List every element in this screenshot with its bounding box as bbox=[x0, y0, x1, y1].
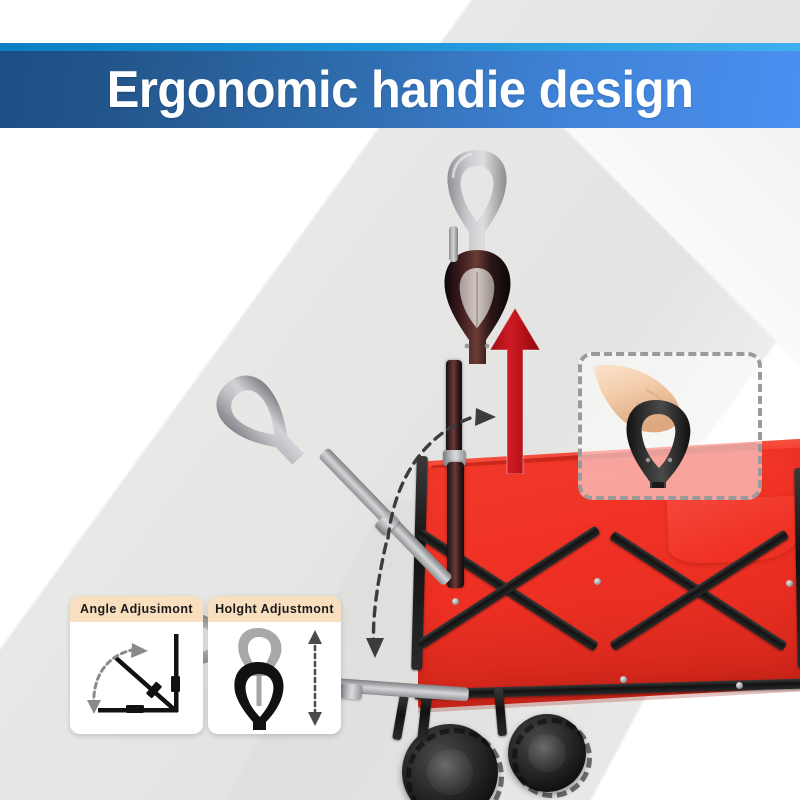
frame-rivet bbox=[736, 682, 743, 689]
frame-rivet bbox=[620, 676, 627, 683]
product-feature-image: Ergonomic handie design bbox=[0, 0, 800, 800]
card-height-title: Holght Adjustmont bbox=[215, 602, 334, 616]
card-height-adjustment[interactable]: Holght Adjustmont bbox=[208, 596, 341, 734]
hand-grip-inset-art bbox=[584, 356, 748, 488]
banner-accent-strip bbox=[0, 43, 800, 51]
frame-rivet bbox=[786, 580, 793, 587]
handle-inner-tube-upper bbox=[449, 226, 458, 262]
page-title: Ergonomic handie design bbox=[107, 64, 694, 116]
wagon-fabric-flap bbox=[667, 496, 799, 564]
header-banner: Ergonomic handie design bbox=[0, 51, 800, 128]
card-angle-adjustment[interactable]: Angle Adjusimont bbox=[70, 596, 203, 734]
frame-leg-outer bbox=[392, 694, 409, 741]
card-angle-header: Angle Adjusimont bbox=[70, 596, 203, 622]
frame-rivet bbox=[594, 578, 601, 585]
wheel-tread bbox=[512, 718, 592, 798]
height-adjust-arrow bbox=[487, 306, 543, 479]
card-angle-body bbox=[70, 622, 203, 730]
angle-adjustment-diagram bbox=[70, 622, 203, 730]
card-height-header: Holght Adjustmont bbox=[208, 596, 341, 622]
card-height-body bbox=[208, 622, 341, 730]
ghost-collar-lowered bbox=[340, 683, 363, 699]
height-adjustment-diagram bbox=[208, 622, 341, 730]
card-angle-title: Angle Adjusimont bbox=[80, 602, 193, 616]
